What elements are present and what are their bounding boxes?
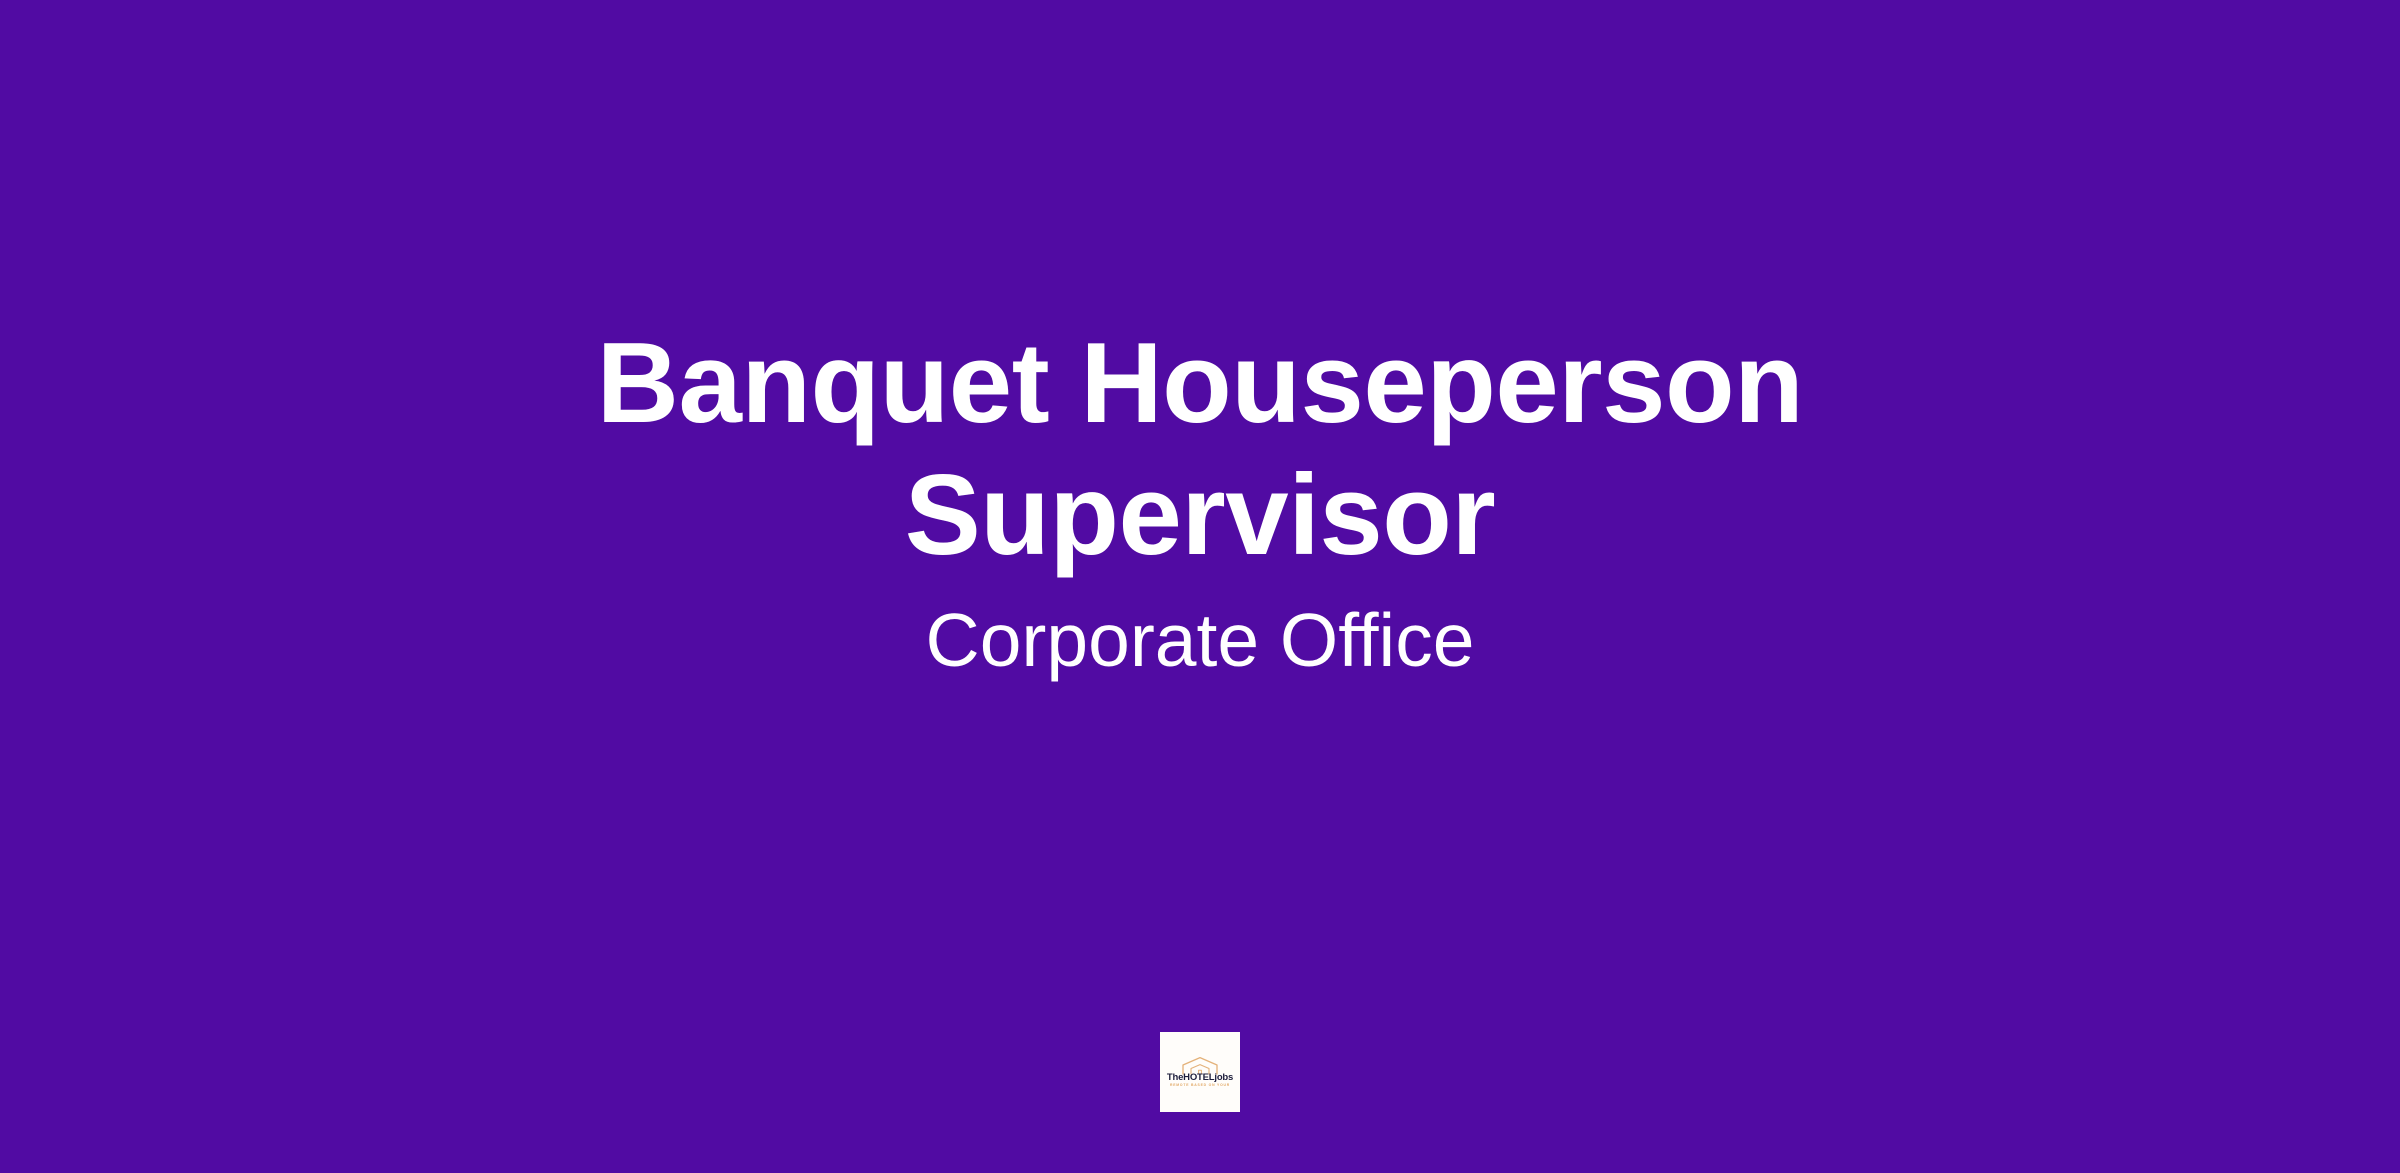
job-location-subtitle: Corporate Office bbox=[570, 596, 1830, 685]
brand-logo-inner: TheHOTELjobs REMOTE BASED ON YOUR bbox=[1164, 1056, 1236, 1088]
brand-wordmark-prefix: The bbox=[1167, 1072, 1183, 1083]
brand-logo: TheHOTELjobs REMOTE BASED ON YOUR bbox=[1160, 1032, 1240, 1112]
page-title: Banquet Houseperson Supervisor bbox=[570, 318, 1830, 582]
brand-wordmark-highlight: HOTEL bbox=[1183, 1072, 1214, 1083]
brand-tagline: REMOTE BASED ON YOUR bbox=[1170, 1084, 1230, 1088]
brand-wordmark-suffix: jobs bbox=[1214, 1072, 1233, 1083]
job-posting-share-card: Banquet Houseperson Supervisor Corporate… bbox=[0, 0, 2400, 1173]
headline-block: Banquet Houseperson Supervisor Corporate… bbox=[570, 318, 1830, 685]
brand-wordmark: TheHOTELjobs bbox=[1167, 1073, 1233, 1083]
